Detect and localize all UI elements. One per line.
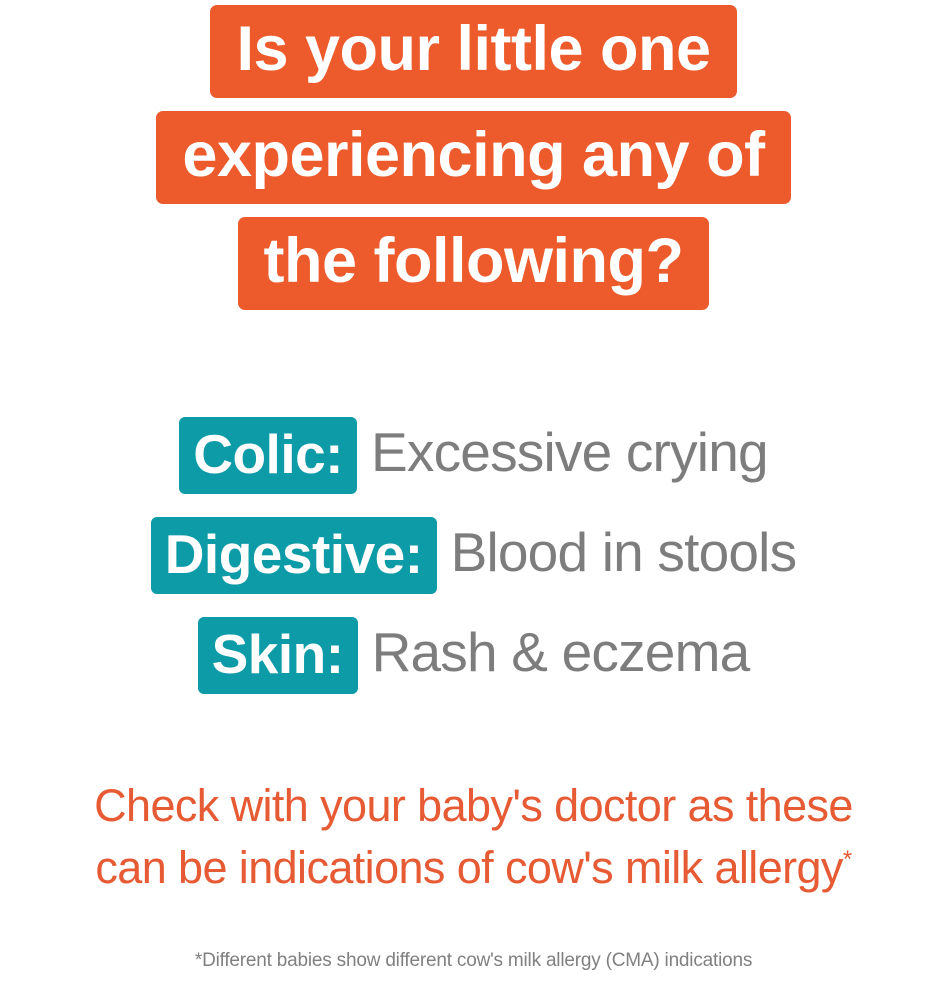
symptom-row-colic: Colic: Excessive crying bbox=[0, 405, 947, 505]
cta-line-2-wrapper: can be indications of cow's milk allergy… bbox=[0, 837, 947, 899]
headline-row-1: Is your little one bbox=[0, 5, 947, 98]
headline-row-2: experiencing any of bbox=[0, 111, 947, 204]
call-to-action: Check with your baby's doctor as these c… bbox=[0, 775, 947, 899]
symptom-label-colic: Colic: bbox=[179, 417, 357, 494]
symptom-description-skin: Rash & eczema bbox=[372, 625, 750, 686]
headline-row-3: the following? bbox=[0, 217, 947, 310]
symptom-list: Colic: Excessive crying Digestive: Blood… bbox=[0, 405, 947, 705]
cta-asterisk-marker: * bbox=[843, 846, 852, 873]
symptom-description-colic: Excessive crying bbox=[371, 425, 768, 486]
symptom-row-skin: Skin: Rash & eczema bbox=[0, 605, 947, 705]
headline-line-3: the following? bbox=[238, 217, 710, 310]
headline-line-2: experiencing any of bbox=[156, 111, 790, 204]
headline-line-1: Is your little one bbox=[210, 5, 736, 98]
footnote-text: *Different babies show different cow's m… bbox=[0, 950, 947, 973]
poster-root: Is your little one experiencing any of t… bbox=[0, 0, 947, 984]
symptom-label-skin: Skin: bbox=[198, 617, 358, 694]
symptom-label-digestive: Digestive: bbox=[151, 517, 437, 594]
cta-line-1: Check with your baby's doctor as these bbox=[0, 775, 947, 837]
cta-line-2: can be indications of cow's milk allergy bbox=[95, 842, 842, 893]
symptom-row-digestive: Digestive: Blood in stools bbox=[0, 505, 947, 605]
symptom-description-digestive: Blood in stools bbox=[451, 525, 797, 586]
